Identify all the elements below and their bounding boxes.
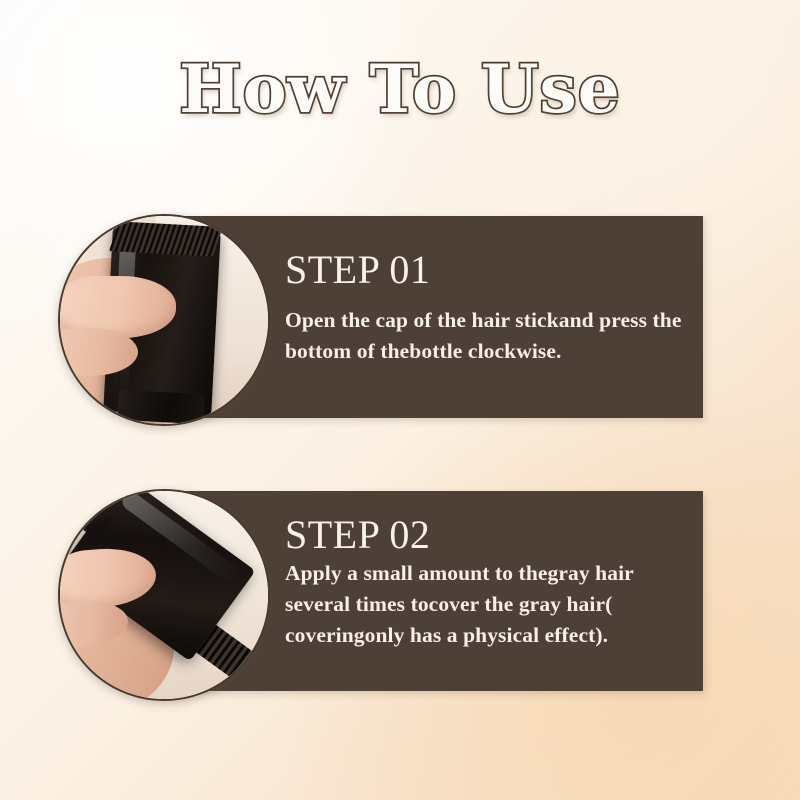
- step-1-heading: STEP 01: [285, 248, 685, 291]
- step-1-photo: [58, 214, 270, 426]
- page-title: How To Use: [179, 56, 620, 122]
- step-row-2: STEP 02 Apply a small amount to thegray …: [0, 489, 800, 701]
- step-2-photo: [58, 489, 270, 701]
- photo-1-bottle-base: [117, 390, 204, 424]
- step-row-1: STEP 01 Open the cap of the hair stickan…: [0, 214, 800, 426]
- step-1-body: Open the cap of the hair stickand press …: [285, 305, 685, 367]
- step-panel-2-text: STEP 02 Apply a small amount to thegray …: [285, 491, 685, 691]
- photo-1-comb-teeth: [109, 222, 223, 257]
- step-2-heading: STEP 02: [285, 513, 685, 556]
- page-title-container: How To Use: [0, 56, 800, 122]
- step-2-photo-scene: [60, 491, 268, 699]
- step-2-body: Apply a small amount to thegray hair sev…: [285, 558, 685, 651]
- step-panel-1-text: STEP 01 Open the cap of the hair stickan…: [285, 216, 685, 418]
- how-to-use-poster: How To Use STEP 01 Open the cap of the h…: [0, 0, 800, 800]
- step-1-photo-scene: [60, 216, 268, 424]
